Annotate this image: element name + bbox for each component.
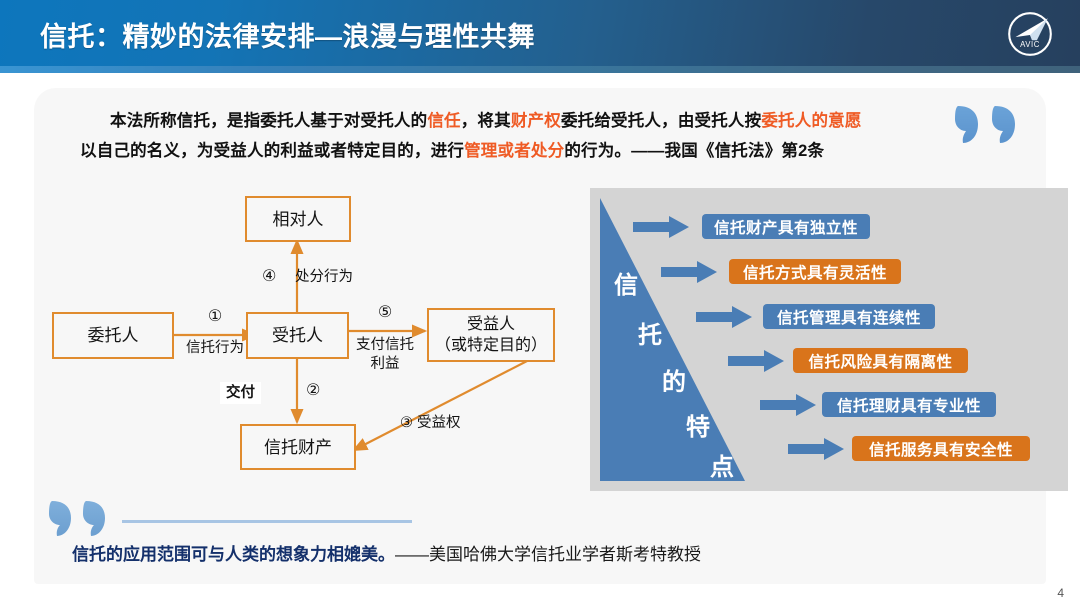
triangle-char-3: 特 <box>686 416 710 440</box>
bottom-quote: 信托的应用范围可与人类的想象力相媲美。——美国哈佛大学信托业学者斯考特教授 <box>72 543 701 567</box>
law-quote: 本法所称信托，是指委托人基于对受托人的信任，将其财产权委托给受托人，由受托人按委… <box>80 106 970 166</box>
diagram-label-zhifu-line1: 支付信托 <box>347 336 423 354</box>
avic-logo-icon: AVIC <box>1004 8 1056 60</box>
feature-bar-5: 信托服务具有安全性 <box>852 436 1030 461</box>
diagram-box-label-line1: 受益人 <box>467 314 515 335</box>
feature-arrow-4 <box>760 394 816 416</box>
svg-text:AVIC: AVIC <box>1020 40 1040 49</box>
diagram-label-num2: ② <box>306 382 320 400</box>
diagram-label-num4: ④ <box>262 268 276 286</box>
quote-line2-b: 的行为。——我国《信托法》第2条 <box>564 142 824 160</box>
triangle-char-2: 的 <box>662 371 686 395</box>
diagram-label-xintuoxingwei: 信托行为 <box>177 339 253 357</box>
diagram-box-label: 相对人 <box>273 209 324 230</box>
feature-arrow-3 <box>728 350 784 372</box>
bottom-quote-attribution: ——美国哈佛大学信托业学者斯考特教授 <box>395 545 701 564</box>
diagram-box-label-line2: （或特定目的） <box>435 335 547 356</box>
diagram-box-xintuocaichan: 信托财产 <box>240 424 356 470</box>
quote-highlight-yiyuan: 委托人的意愿 <box>761 112 861 130</box>
quote-line1-a: 本法所称信托，是指委托人基于对受托人的 <box>110 112 427 130</box>
feature-arrow-5 <box>788 438 844 460</box>
quote-highlight-xinren: 信任 <box>427 112 460 130</box>
diagram-box-label: 信托财产 <box>264 437 332 458</box>
triangle-char-4: 点 <box>710 456 734 480</box>
diagram-box-shoutuoren: 受托人 <box>246 312 349 359</box>
header-accent-line <box>0 73 1080 75</box>
trust-relationship-diagram: 相对人 委托人 受托人 受益人 （或特定目的） 信托财产 ④ 处分行为 ① 信托… <box>42 188 572 488</box>
header-accent-bar <box>0 66 1080 73</box>
feature-bar-0: 信托财产具有独立性 <box>702 214 870 239</box>
diagram-label-chufenxingwei: 处分行为 <box>295 268 353 286</box>
feature-arrow-0 <box>633 216 689 238</box>
diagram-label-zhifu-line2: 利益 <box>347 355 423 373</box>
quote-line1-c: 委托给受托人，由受托人按 <box>561 112 761 130</box>
page-number: 4 <box>1057 586 1064 600</box>
open-quote-icon <box>46 498 112 538</box>
bottom-quote-rule <box>122 520 412 523</box>
diagram-box-label: 受托人 <box>272 325 323 346</box>
diagram-box-xiangduiren: 相对人 <box>245 196 351 242</box>
bottom-quote-lead: 信托的应用范围可与人类的想象力相媲美。 <box>72 545 395 564</box>
feature-arrow-1 <box>661 261 717 283</box>
slide: 信托：精妙的法律安排—浪漫与理性共舞 AVIC 本法所称信托，是指委托人基于对受… <box>0 0 1080 608</box>
diagram-box-weituoren: 委托人 <box>52 312 174 359</box>
diagram-label-jiaofu: 交付 <box>220 382 261 404</box>
quote-line1-b: ，将其 <box>461 112 511 130</box>
diagram-box-label: 委托人 <box>88 325 139 346</box>
page-title: 信托：精妙的法律安排—浪漫与理性共舞 <box>40 15 535 54</box>
content-card: 本法所称信托，是指委托人基于对受托人的信任，将其财产权委托给受托人，由受托人按委… <box>34 88 1046 584</box>
quote-highlight-caichanquan: 财产权 <box>511 112 561 130</box>
trust-features-panel: 信 托 的 特 点 信托财产具有 <box>590 188 1068 491</box>
triangle-char-1: 托 <box>638 324 662 348</box>
quote-highlight-guanli: 管理或者处分 <box>464 142 564 160</box>
feature-arrow-2 <box>696 306 752 328</box>
close-quote-icon <box>952 102 1024 146</box>
feature-bar-4: 信托理财具有专业性 <box>822 392 996 417</box>
diagram-box-shouyiren: 受益人 （或特定目的） <box>427 308 555 362</box>
feature-bar-3: 信托风险具有隔离性 <box>793 348 968 373</box>
feature-bar-1: 信托方式具有灵活性 <box>729 259 901 284</box>
quote-line2-a: 以自己的名义，为受益人的利益或者特定目的，进行 <box>80 142 464 160</box>
diagram-label-num5: ⑤ <box>355 304 415 322</box>
diagram-label-num1: ① <box>182 308 248 326</box>
feature-bar-2: 信托管理具有连续性 <box>763 304 935 329</box>
diagram-label-shouyiquan: ③ 受益权 <box>400 414 461 432</box>
triangle-char-0: 信 <box>614 274 638 298</box>
